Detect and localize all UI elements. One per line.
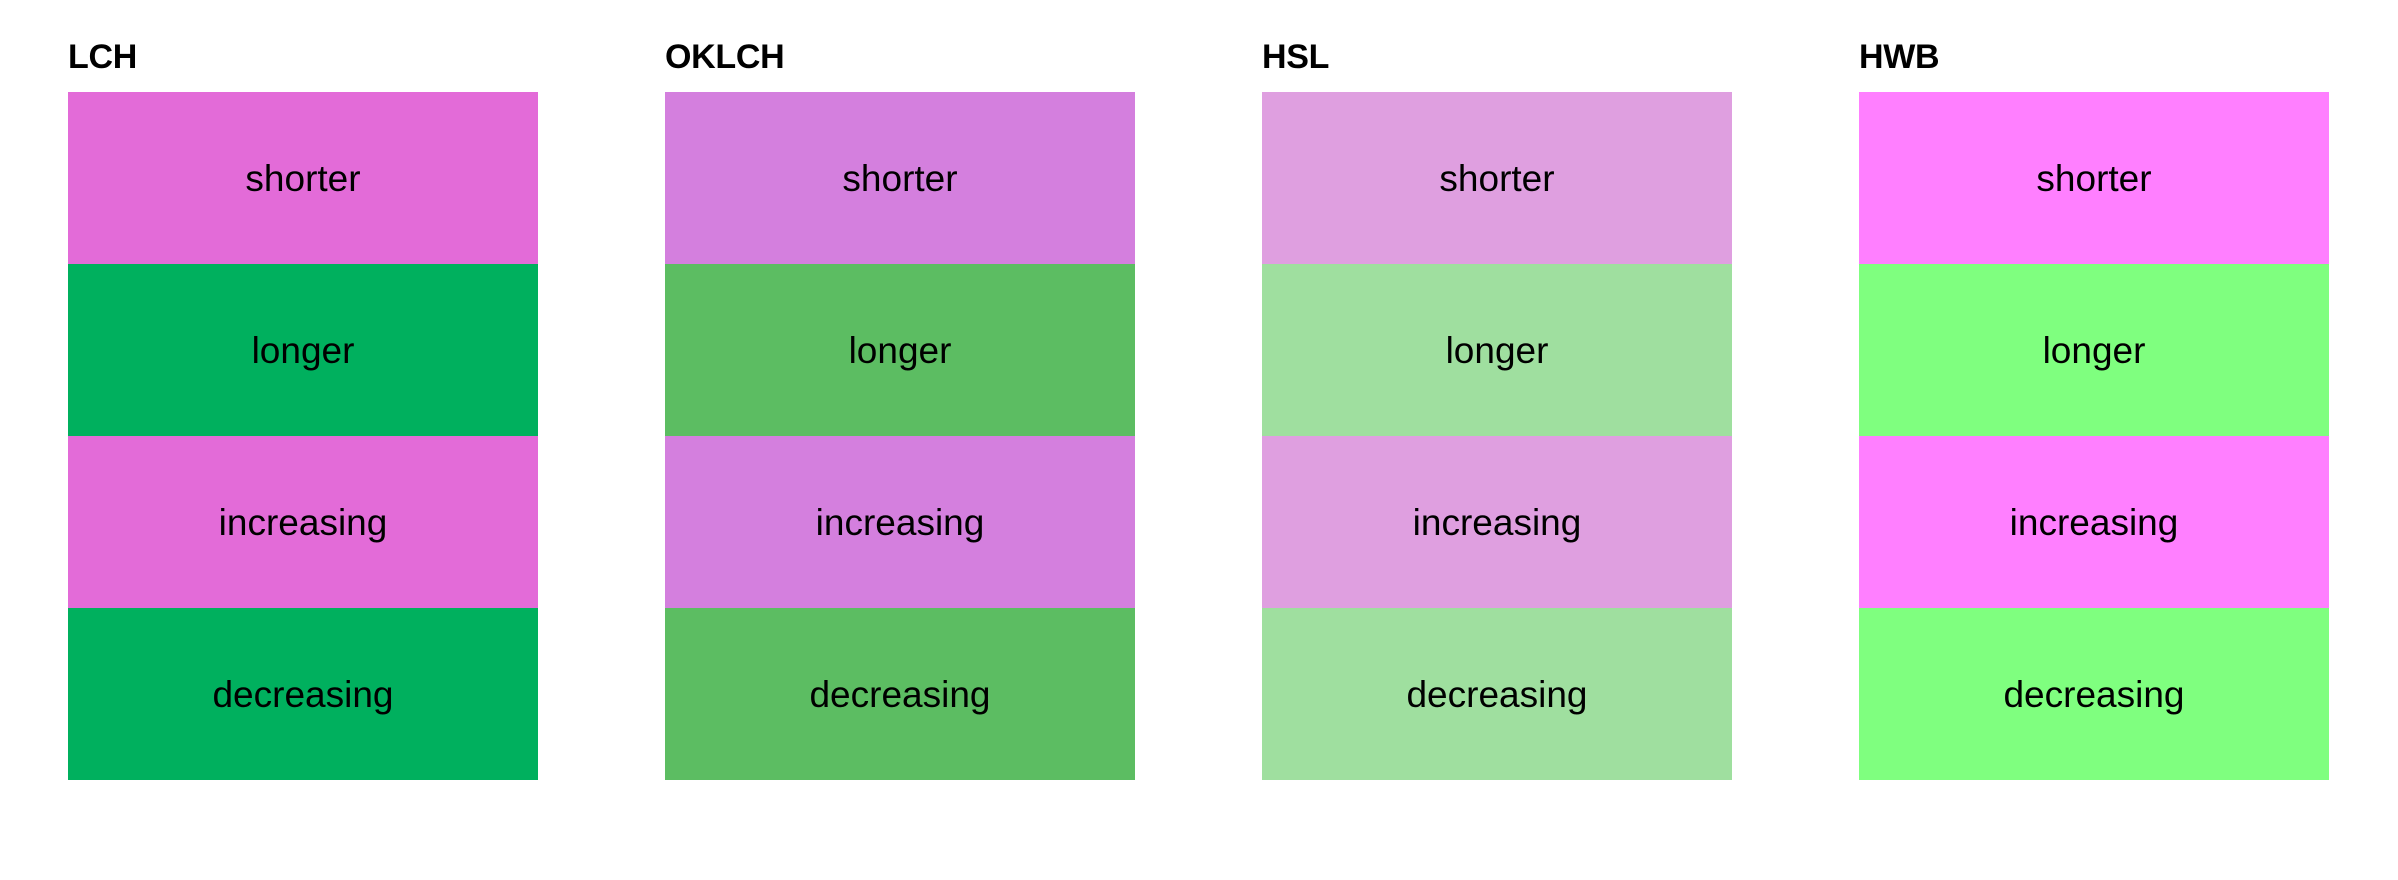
swatch-hwb-decreasing: decreasing [1859,608,2329,780]
swatch-hsl-shorter: shorter [1262,92,1732,264]
swatch-label: increasing [2010,504,2179,541]
swatch-lch-shorter: shorter [68,92,538,264]
swatch-oklch-decreasing: decreasing [665,608,1135,780]
swatch-stack-hwb: shorter longer increasing decreasing [1859,92,2329,780]
swatch-lch-longer: longer [68,264,538,436]
color-space-column-lch: LCH shorter longer increasing decreasing [68,40,538,780]
swatch-label: shorter [1439,160,1554,197]
swatch-label: decreasing [1406,676,1587,713]
swatch-lch-increasing: increasing [68,436,538,608]
swatch-stack-hsl: shorter longer increasing decreasing [1262,92,1732,780]
swatch-stack-oklch: shorter longer increasing decreasing [665,92,1135,780]
swatch-label: longer [2043,332,2146,369]
swatch-oklch-increasing: increasing [665,436,1135,608]
color-space-column-hwb: HWB shorter longer increasing decreasing [1859,40,2329,780]
swatch-label: decreasing [809,676,990,713]
swatch-hwb-shorter: shorter [1859,92,2329,264]
swatch-label: shorter [2036,160,2151,197]
column-heading-oklch: OKLCH [665,40,1135,74]
swatch-hsl-increasing: increasing [1262,436,1732,608]
color-interpolation-comparison: LCH shorter longer increasing decreasing… [0,0,2398,880]
swatch-label: decreasing [212,676,393,713]
swatch-oklch-longer: longer [665,264,1135,436]
column-heading-hsl: HSL [1262,40,1732,74]
swatch-label: decreasing [2003,676,2184,713]
swatch-hsl-decreasing: decreasing [1262,608,1732,780]
column-heading-hwb: HWB [1859,40,2329,74]
swatch-hwb-longer: longer [1859,264,2329,436]
swatch-label: longer [252,332,355,369]
swatch-label: shorter [245,160,360,197]
swatch-label: increasing [816,504,985,541]
color-space-column-group: LCH shorter longer increasing decreasing… [68,40,2330,780]
swatch-stack-lch: shorter longer increasing decreasing [68,92,538,780]
swatch-label: increasing [219,504,388,541]
swatch-oklch-shorter: shorter [665,92,1135,264]
swatch-hwb-increasing: increasing [1859,436,2329,608]
swatch-lch-decreasing: decreasing [68,608,538,780]
swatch-label: increasing [1413,504,1582,541]
color-space-column-oklch: OKLCH shorter longer increasing decreasi… [665,40,1135,780]
swatch-label: shorter [842,160,957,197]
swatch-label: longer [849,332,952,369]
column-heading-lch: LCH [68,40,538,74]
swatch-label: longer [1446,332,1549,369]
swatch-hsl-longer: longer [1262,264,1732,436]
color-space-column-hsl: HSL shorter longer increasing decreasing [1262,40,1732,780]
